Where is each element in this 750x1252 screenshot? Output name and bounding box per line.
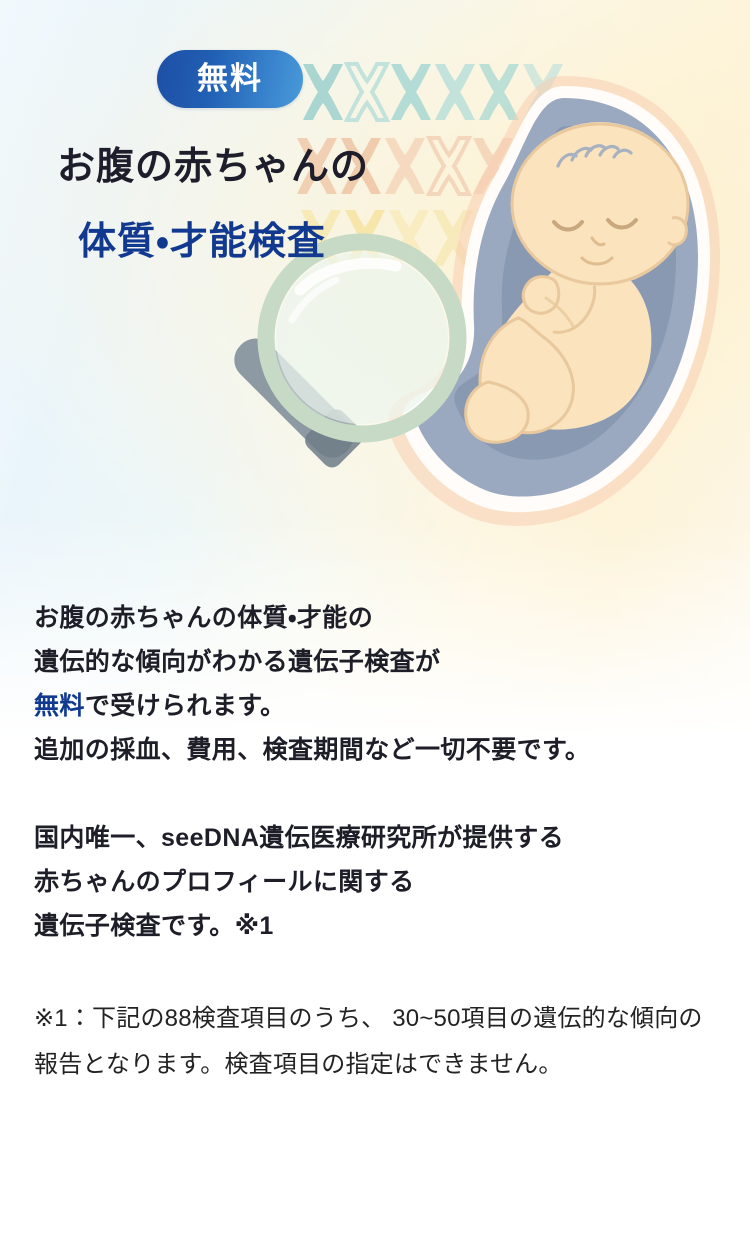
body-p1-line-1: お腹の赤ちゃんの体質・才能の (34, 604, 373, 632)
paragraph-spacer (0, 772, 750, 816)
page-title-line-1: お腹の赤ちゃんの (57, 145, 369, 191)
free-badge-label: 無料 (197, 63, 263, 94)
body-paragraph-2: 国内唯一、seeDNA遺伝医療研究所が提供する 赤ちゃんのプロフィールに関する … (34, 816, 750, 948)
body-p2-line-3: 遺伝子検査です。※1 (34, 912, 274, 940)
footnote: ※1：下記の88検査項目のうち、 30~50項目の遺伝的な傾向の報告となります。… (34, 948, 724, 1088)
free-badge: 無料 (157, 50, 303, 108)
free-highlight: 無料 (34, 692, 85, 720)
body-paragraph-1: お腹の赤ちゃんの体質・才能の 遺伝的な傾向がわかる遺伝子検査が 無料で受けられま… (34, 596, 750, 772)
body-p1-line-4: 追加の採血、費用、検査期間など一切不要です。 (34, 736, 590, 764)
magnifying-glass-icon (176, 228, 482, 518)
body-p1-line-2: 遺伝的な傾向がわかる遺伝子検査が (34, 648, 440, 676)
body-p1-line-3-rest: で受けられます。 (85, 692, 286, 720)
content-section: お腹の赤ちゃんの体質・才能の 遺伝的な傾向がわかる遺伝子検査が 無料で受けられま… (0, 596, 750, 1088)
body-p2-line-2: 赤ちゃんのプロフィールに関する (34, 868, 415, 896)
body-p2-line-1: 国内唯一、seeDNA遺伝医療研究所が提供する (34, 824, 564, 852)
page-title-line-2: 体質・才能検査 (78, 220, 326, 266)
